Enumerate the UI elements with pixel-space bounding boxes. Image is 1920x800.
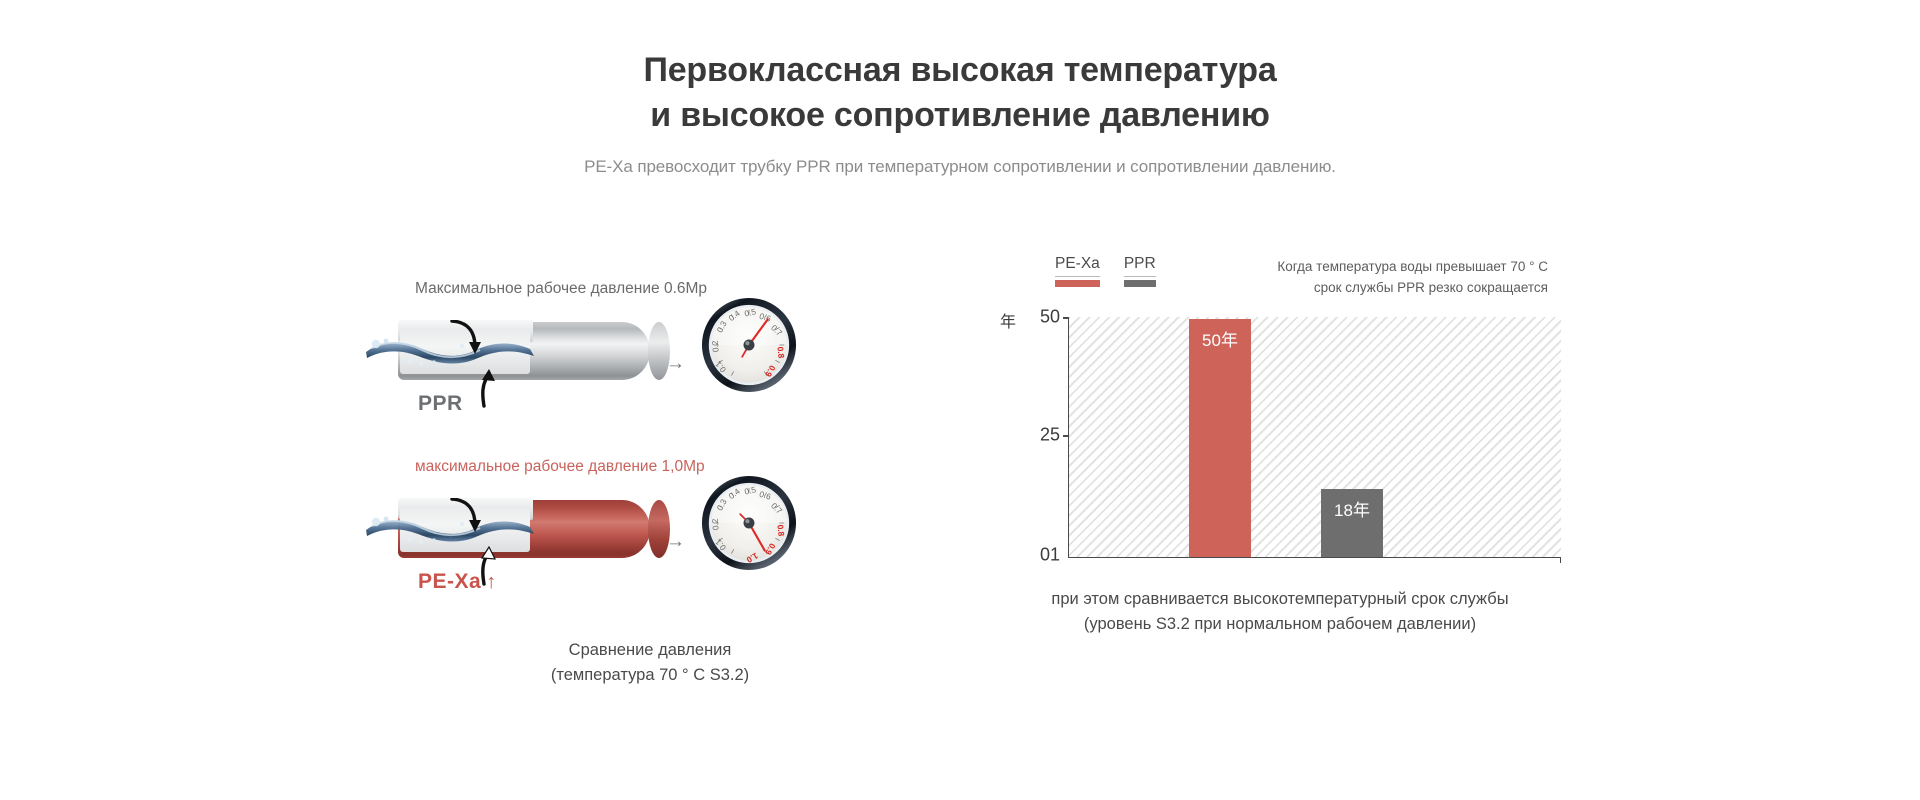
ppr-pressure-label: Максимальное рабочее давление 0.6Mp (415, 280, 707, 298)
pipe-caption-line-1: Сравнение давления (370, 638, 930, 663)
y-axis-tick-labels: 50 25 01 (1022, 317, 1060, 557)
lifespan-chart-panel: PE-Xa PPR Когда температура воды превыша… (1000, 255, 1620, 675)
pexa-pressure-label: максимальное рабочее давление 1,0Mp (415, 458, 705, 476)
chart-note-line-2: срок службы PPR резко сокращается (1208, 278, 1548, 299)
svg-text:0.8: 0.8 (775, 524, 786, 537)
infographic-page: Первоклассная высокая температура и высо… (0, 0, 1920, 800)
chart-plot-wrapper: 年 50 25 01 50年 18年 (1000, 317, 1560, 557)
y-axis-unit-label: 年 (1000, 308, 1016, 332)
pexa-pipe-name-text: PE-Xa (418, 570, 481, 593)
svg-text:0.8: 0.8 (775, 346, 786, 359)
chart-caption: при этом сравнивается высокотемпературны… (980, 587, 1580, 637)
bar-pexa[interactable]: 50年 (1189, 319, 1251, 557)
pipe-comparison-caption: Сравнение давления (температура 70 ° C S… (370, 638, 930, 688)
pexa-pipe-name: PE-Xa↑ (418, 570, 497, 594)
ppr-pipe-name: PPR (418, 392, 463, 416)
pexa-pipe-illustration: → (370, 486, 660, 566)
ppr-pipe-illustration: → (370, 308, 660, 388)
chart-note-line-1: Когда температура воды превышает 70 ° C (1208, 257, 1548, 278)
ppr-flow-arrow-icon: → (666, 354, 685, 373)
page-subtitle: PE-Xa превосходит трубку PPR при темпера… (0, 157, 1920, 177)
page-header: Первоклассная высокая температура и высо… (0, 48, 1920, 177)
legend-swatch-ppr (1124, 280, 1156, 287)
svg-text:0.2: 0.2 (710, 518, 721, 531)
page-title-line-1: Первоклассная высокая температура (0, 48, 1920, 93)
water-flow-icon (364, 334, 554, 370)
pexa-pressure-gauge: 0.1 0.2 0.3 0.4 0.5 0.6 0.7 0.8 0.9 1.0 (700, 474, 798, 572)
y-tick-label-50: 50 (1040, 307, 1060, 328)
legend-item-pexa: PE-Xa (1055, 255, 1100, 287)
legend-item-ppr: PPR (1124, 255, 1156, 287)
chart-caption-line-2: (уровень S3.2 при нормальном рабочем дав… (980, 612, 1580, 637)
svg-text:0.2: 0.2 (710, 340, 721, 353)
pexa-up-arrow-icon: ↑ (486, 571, 497, 593)
pipe-caption-line-2: (температура 70 ° C S3.2) (370, 663, 930, 688)
legend-label-ppr: PPR (1124, 255, 1156, 277)
chart-plot-area: 50年 18年 (1068, 317, 1561, 558)
chart-caption-line-1: при этом сравнивается высокотемпературны… (980, 587, 1580, 612)
x-axis-end-tick (1560, 557, 1562, 563)
ppr-pipe-unit: Максимальное рабочее давление 0.6Mp (370, 280, 930, 430)
legend-label-pexa: PE-Xa (1055, 255, 1100, 277)
pexa-pipe-unit: максимальное рабочее давление 1,0Mp (370, 458, 930, 608)
bar-ppr[interactable]: 18年 (1321, 489, 1383, 557)
chart-legend: PE-Xa PPR (1055, 255, 1180, 287)
y-tick-label-25: 25 (1040, 425, 1060, 446)
y-axis-tick-50 (1063, 317, 1069, 319)
water-flow-icon (364, 512, 554, 548)
y-axis-tick-25 (1063, 435, 1069, 437)
pexa-flow-arrow-icon: → (666, 532, 685, 551)
page-title-line-2: и высокое сопротивление давлению (0, 93, 1920, 138)
chart-note: Когда температура воды превышает 70 ° C … (1208, 257, 1548, 299)
legend-swatch-pexa (1055, 280, 1100, 287)
ppr-pressure-gauge: 0.1 0.2 0.3 0.4 0.5 0.6 0.7 0.8 0.9 (700, 296, 798, 394)
pipe-comparison-panel: Максимальное рабочее давление 0.6Mp (370, 280, 930, 700)
y-tick-label-01: 01 (1040, 545, 1060, 566)
